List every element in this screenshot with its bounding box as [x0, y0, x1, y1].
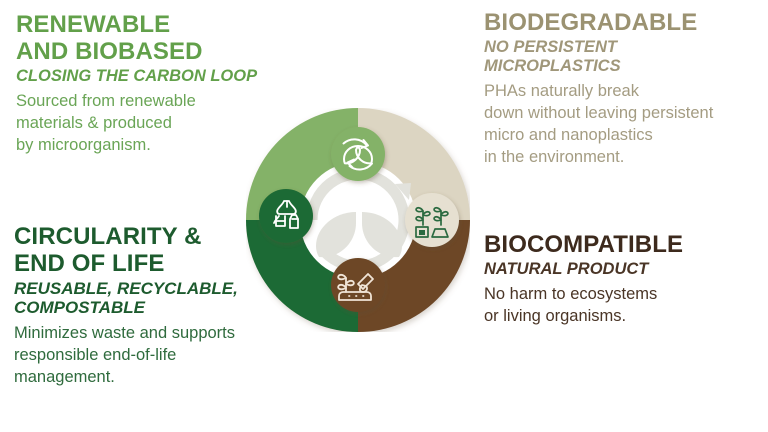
- biodegradable-body-text: PHAs naturally break down without leavin…: [484, 81, 768, 169]
- biodegradable-heading: BIODEGRADABLE: [484, 10, 768, 37]
- lifecycle-donut-diagram: [246, 108, 470, 332]
- biocompatible-heading: BIOCOMPATIBLE: [484, 232, 768, 259]
- biocompatible-body-text: No harm to ecosystems or living organism…: [484, 284, 768, 328]
- recycle-leaf-icon: [331, 127, 385, 181]
- circularity-body-text: Minimizes waste and supports responsible…: [14, 323, 324, 389]
- compost-soil-icon: [331, 258, 385, 312]
- reusable-containers-icon: [259, 189, 313, 243]
- infographic-canvas: RENEWABLE AND BIOBASED CLOSING THE CARBO…: [0, 0, 768, 432]
- section-biodegradable: BIODEGRADABLE NO PERSISTENT MICROPLASTIC…: [484, 10, 768, 169]
- biocompatible-subheading: NATURAL PRODUCT: [484, 260, 768, 279]
- plant-packaging-icon: [405, 193, 459, 247]
- section-biocompatible: BIOCOMPATIBLE NATURAL PRODUCT No harm to…: [484, 232, 768, 328]
- renewable-heading: RENEWABLE AND BIOBASED: [16, 12, 316, 66]
- biodegradable-subheading: NO PERSISTENT MICROPLASTICS: [484, 38, 768, 76]
- renewable-subheading: CLOSING THE CARBON LOOP: [16, 67, 316, 86]
